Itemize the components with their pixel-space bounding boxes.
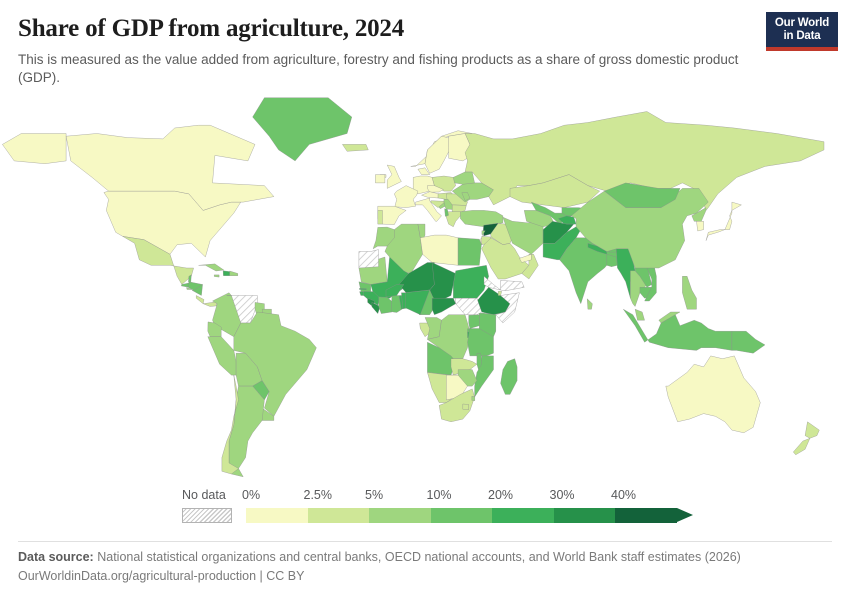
- legend-bin-5[interactable]: [554, 508, 616, 523]
- country-uganda[interactable]: [469, 315, 480, 329]
- legend-tick-3: 10%: [427, 488, 452, 502]
- legend-tick-4: 20%: [488, 488, 513, 502]
- country-dominican-republic[interactable]: [230, 271, 238, 276]
- country-madagascar[interactable]: [501, 359, 517, 395]
- world-map[interactable]: [0, 95, 850, 485]
- country-lesotho[interactable]: [463, 404, 469, 410]
- data-source-line: Data source: National statistical organi…: [18, 548, 830, 567]
- country-gambia[interactable]: [359, 288, 366, 289]
- country-iceland[interactable]: [342, 144, 368, 151]
- legend-bin-3[interactable]: [431, 508, 493, 523]
- country-ivory-coast[interactable]: [379, 297, 393, 314]
- country-new-zealand[interactable]: [793, 422, 819, 455]
- world-map-svg[interactable]: [0, 95, 850, 485]
- country-south-sudan[interactable]: [456, 298, 482, 315]
- owid-logo[interactable]: Our World in Data: [766, 12, 838, 51]
- country-haiti[interactable]: [223, 271, 230, 276]
- legend-tick-1: 2.5%: [304, 488, 333, 502]
- legend-tick-0: 0%: [242, 488, 260, 502]
- country-greenland[interactable]: [253, 98, 352, 161]
- country-peru[interactable]: [208, 337, 236, 375]
- legend-bin-0[interactable]: [246, 508, 308, 523]
- country-egypt[interactable]: [458, 238, 481, 265]
- country-greece[interactable]: [446, 212, 461, 227]
- country-ireland[interactable]: [375, 175, 385, 183]
- country-costa-rica[interactable]: [196, 296, 204, 304]
- chart-footer: Data source: National statistical organi…: [18, 548, 830, 586]
- owid-choropleth-chart: Share of GDP from agriculture, 2024 This…: [0, 0, 850, 600]
- legend-open-ended-arrow: [677, 508, 693, 522]
- map-legend: No data 0%2.5%5%10%20%30%40%: [0, 488, 850, 536]
- country-philippines[interactable]: [682, 276, 696, 309]
- country-japan[interactable]: [706, 202, 741, 241]
- country-sri-lanka[interactable]: [587, 299, 592, 309]
- chart-subtitle: This is measured as the value added from…: [18, 51, 753, 87]
- country-cuba[interactable]: [199, 264, 224, 271]
- page-title: Share of GDP from agriculture, 2024: [18, 14, 832, 44]
- footer-divider: [18, 541, 832, 542]
- legend-color-bar[interactable]: [0, 508, 850, 524]
- country-panama[interactable]: [203, 302, 217, 307]
- attribution-line[interactable]: OurWorldinData.org/agricultural-producti…: [18, 567, 830, 586]
- legend-bin-2[interactable]: [369, 508, 431, 523]
- data-source-label: Data source:: [18, 550, 94, 564]
- country-libya[interactable]: [420, 235, 458, 265]
- country-albania[interactable]: [445, 209, 449, 217]
- country-papua-new-guinea[interactable]: [732, 331, 765, 353]
- country-south-korea[interactable]: [697, 221, 704, 231]
- legend-no-data-label: No data: [182, 488, 226, 502]
- country-western-sahara[interactable]: [359, 250, 379, 268]
- legend-bin-1[interactable]: [308, 508, 370, 523]
- legend-bin-4[interactable]: [492, 508, 554, 523]
- owid-logo-line2: in Data: [772, 30, 832, 43]
- country-jamaica[interactable]: [214, 275, 219, 277]
- country-australia[interactable]: [666, 356, 761, 433]
- owid-logo-line1: Our World: [772, 17, 832, 30]
- country-argentina[interactable]: [229, 386, 264, 477]
- country-portugal[interactable]: [378, 210, 383, 224]
- legend-tick-5: 30%: [550, 488, 575, 502]
- legend-tick-2: 5%: [365, 488, 383, 502]
- country-eswatini[interactable]: [472, 396, 475, 400]
- country-yemen[interactable]: [501, 280, 525, 290]
- legend-tick-labels: No data 0%2.5%5%10%20%30%40%: [0, 488, 850, 504]
- country-austria[interactable]: [422, 192, 440, 198]
- legend-bin-6[interactable]: [615, 508, 677, 523]
- country-central-african-republic[interactable]: [432, 298, 456, 315]
- chart-header: Share of GDP from agriculture, 2024 This…: [0, 0, 850, 87]
- country-belarus[interactable]: [453, 172, 474, 184]
- data-source-text: National statistical organizations and c…: [97, 550, 741, 564]
- legend-no-data-swatch[interactable]: [182, 508, 232, 523]
- legend-tick-6: 40%: [611, 488, 636, 502]
- country-djibouti[interactable]: [498, 291, 502, 295]
